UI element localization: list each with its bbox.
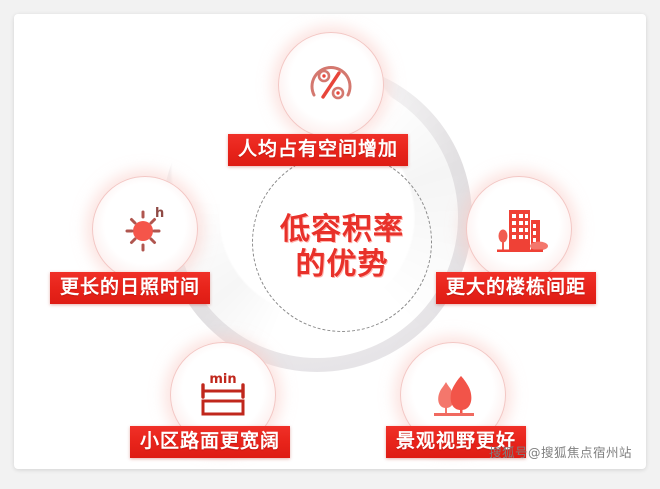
buildings-tree-icon <box>489 200 549 258</box>
sun-hours-icon-text: h <box>155 206 164 221</box>
percent-gauge-icon <box>303 57 359 113</box>
center-title: 低容积率 的优势 <box>242 212 442 283</box>
node-label-bottom-left[interactable]: 小区路面更宽阔 <box>130 426 290 458</box>
road-width-min-icon-text: min <box>209 372 236 387</box>
center-title-line2: 的优势 <box>242 247 442 282</box>
road-width-min-icon: min <box>193 368 253 422</box>
node-bubble-left[interactable]: h <box>92 176 198 282</box>
node-label-top[interactable]: 人均占有空间增加 <box>228 134 408 166</box>
node-bubble-top[interactable] <box>278 32 384 138</box>
infographic-stage: 低容积率 的优势 <box>14 14 646 469</box>
infographic-card: 低容积率 的优势 <box>14 14 646 469</box>
watermark-text: 搜狐号@搜狐焦点宿州站 <box>489 442 632 461</box>
sun-hours-icon: h <box>116 200 174 258</box>
node-label-left[interactable]: 更长的日照时间 <box>50 272 210 304</box>
node-label-right[interactable]: 更大的楼栋间距 <box>436 272 596 304</box>
two-trees-icon <box>424 368 482 422</box>
node-bubble-right[interactable] <box>466 176 572 282</box>
center-title-line1: 低容积率 <box>280 212 404 247</box>
